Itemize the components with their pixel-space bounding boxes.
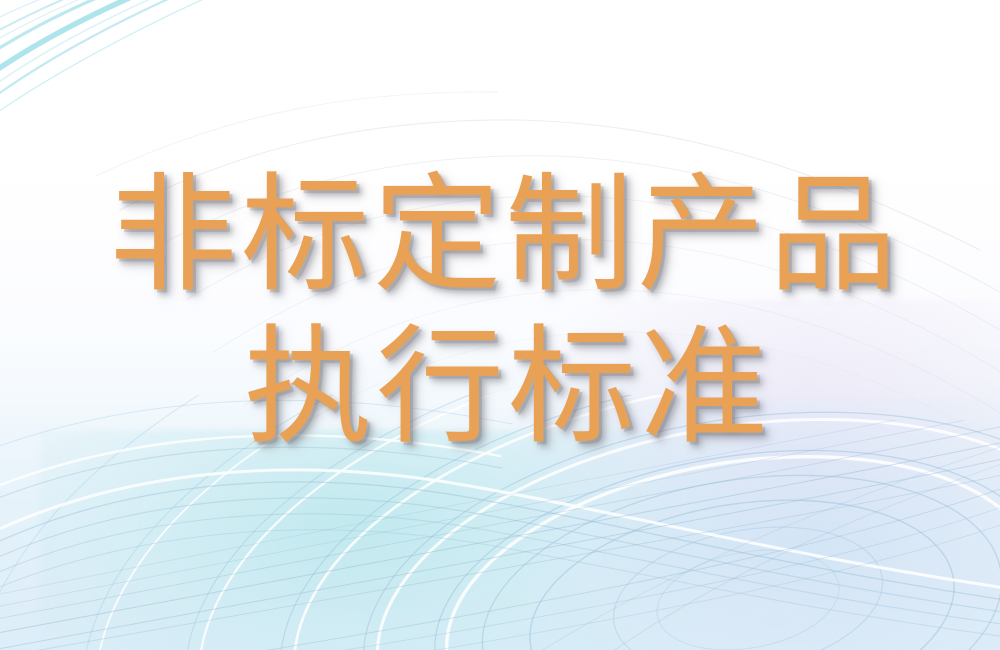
slide-canvas: 非标定制产品 执行标准 (0, 0, 1000, 650)
title-line-1: 非标定制产品 (0, 160, 1000, 312)
title-line-2: 执行标准 (0, 312, 1000, 464)
slide-title: 非标定制产品 执行标准 (0, 160, 1000, 464)
